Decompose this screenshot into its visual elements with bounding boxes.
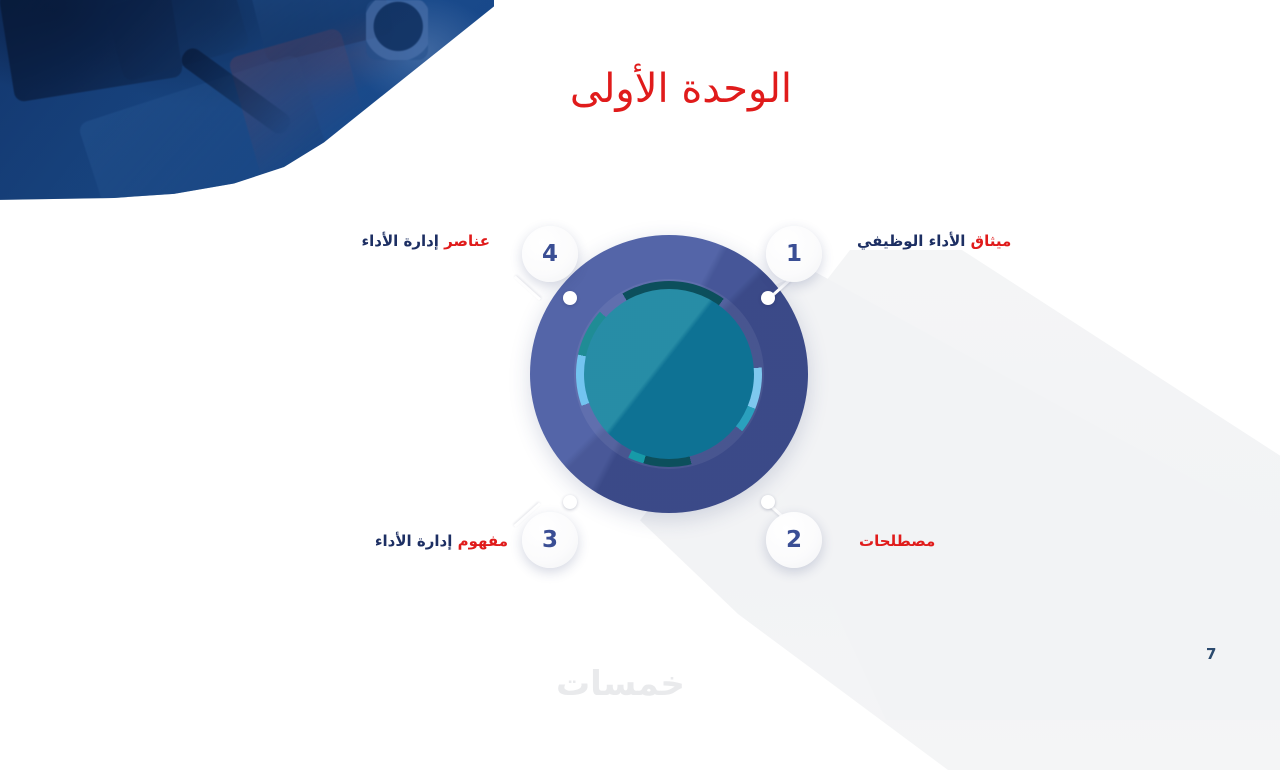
ring-dot-4 [563, 291, 577, 305]
photo-blue-tint-overlay [0, 0, 494, 200]
ring-dot-2 [761, 495, 775, 509]
watermark: خمسات [556, 664, 685, 704]
connector-line-4 [514, 276, 541, 301]
diagram-label-2-accent: مصطلحات [859, 532, 935, 550]
diagram-label-1[interactable]: ميثاق الأداء الوظيفي [857, 232, 1011, 250]
ring-dot-1 [761, 291, 775, 305]
diagram-label-2[interactable]: مصطلحات [859, 532, 935, 550]
diagram-label-3[interactable]: مفهوم إدارة الأداء [375, 532, 508, 550]
diagram-inner-circle [584, 289, 754, 459]
circular-diagram: 1 2 3 4 [530, 280, 810, 520]
diagram-label-1-accent: ميثاق [971, 232, 1012, 250]
diagram-badge-4[interactable]: 4 [522, 226, 578, 282]
page-title: الوحدة الأولى [570, 66, 792, 112]
diagram-badge-3[interactable]: 3 [522, 512, 578, 568]
diagram-badge-2[interactable]: 2 [766, 512, 822, 568]
diagram-label-4[interactable]: عناصر إدارة الأداء [361, 232, 490, 250]
hero-photo-decoration [0, 0, 494, 200]
diagram-badge-1[interactable]: 1 [766, 226, 822, 282]
page-number: 7 [1206, 645, 1216, 663]
diagram-label-4-accent: عناصر [444, 232, 490, 250]
diagram-label-1-rest: الأداء الوظيفي [857, 232, 971, 250]
diagram-label-4-rest: إدارة الأداء [361, 232, 444, 250]
diagram-label-3-rest: إدارة الأداء [375, 532, 458, 550]
diagram-label-3-accent: مفهوم [458, 532, 508, 550]
ring-dot-3 [563, 495, 577, 509]
